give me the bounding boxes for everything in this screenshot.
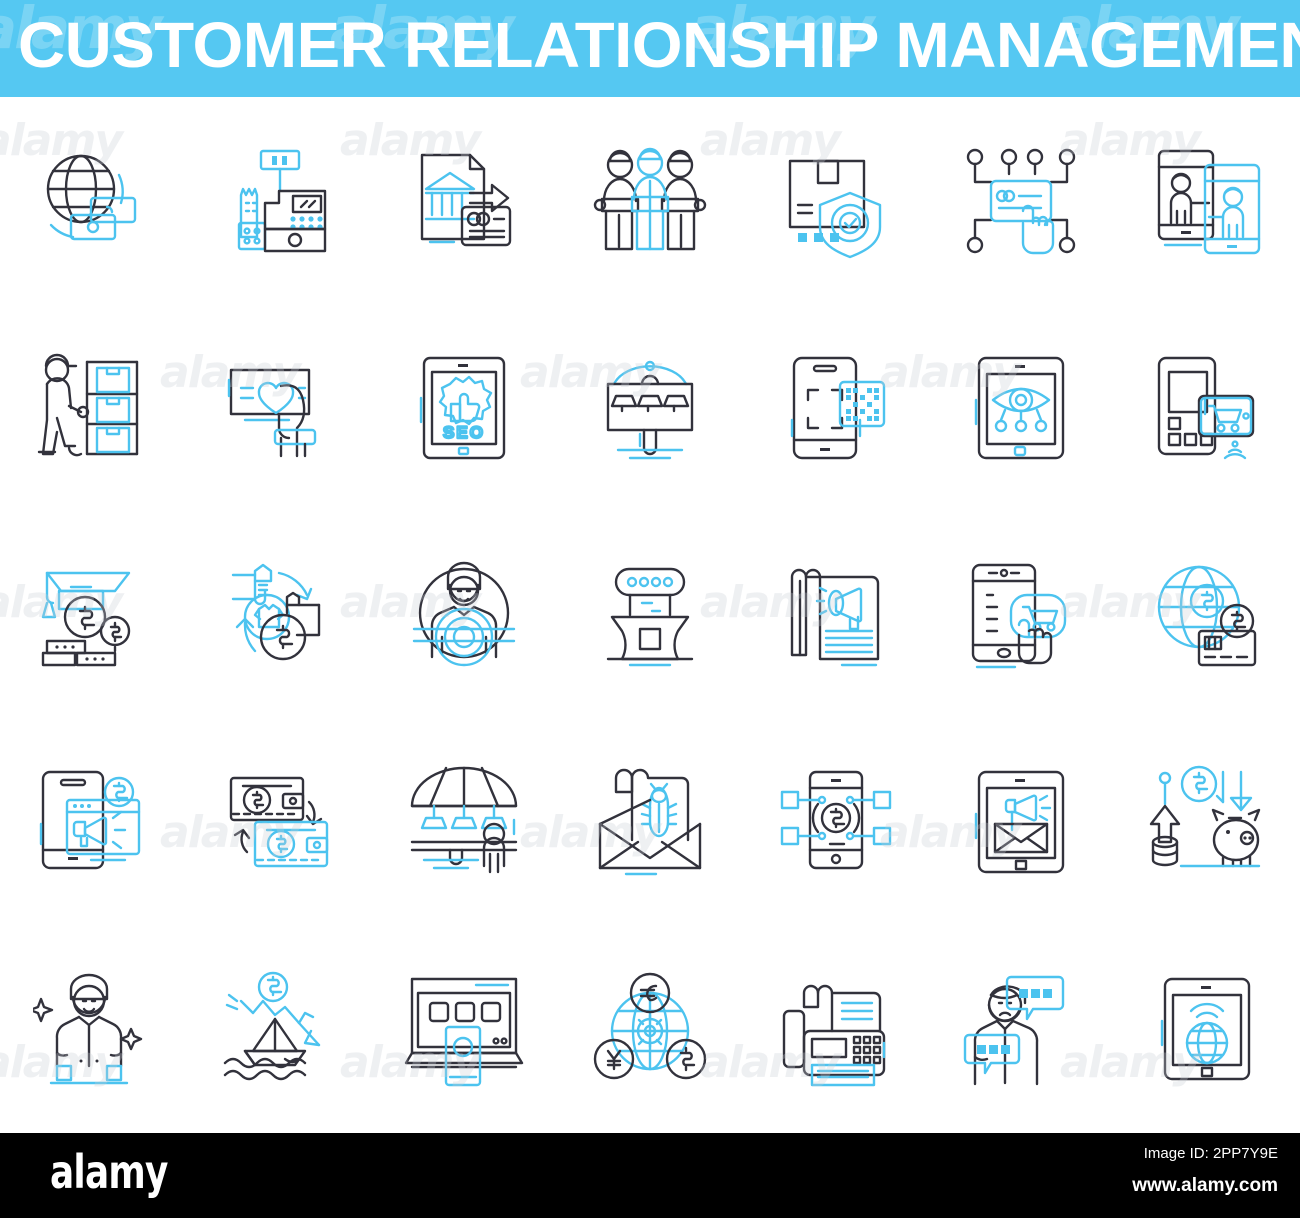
icon-grid: SEO xyxy=(0,97,1300,1133)
team-staff-icon xyxy=(565,106,735,296)
fax-machine-icon xyxy=(751,934,921,1124)
customer-target-icon xyxy=(379,520,549,710)
alamy-url-label[interactable]: www.alamy.com xyxy=(1132,1175,1278,1197)
global-money-icon xyxy=(8,106,178,296)
customer-support-chat-icon xyxy=(936,934,1106,1124)
currency-exchange-icon xyxy=(565,934,735,1124)
advertising-flyer-icon xyxy=(751,520,921,710)
secure-package-icon xyxy=(751,106,921,296)
mobile-shopping-icon xyxy=(1122,313,1292,503)
scholarship-money-icon xyxy=(8,520,178,710)
mobile-ad-icon xyxy=(8,727,178,917)
page-title: CUSTOMER RELATIONSHIP MANAGEMENT xyxy=(18,8,1300,82)
email-marketing-icon xyxy=(936,727,1106,917)
savings-growth-icon xyxy=(1122,727,1292,917)
atm-machine-icon xyxy=(379,934,549,1124)
alamy-logo: alamy xyxy=(50,1145,168,1199)
seo-tablet-icon: SEO xyxy=(379,313,549,503)
loyalty-card-icon xyxy=(194,313,364,503)
visibility-tablet-icon xyxy=(936,313,1106,503)
video-call-icon xyxy=(1122,106,1292,296)
mobile-cart-tap-icon xyxy=(936,520,1106,710)
cash-register-icon xyxy=(194,106,364,296)
sinking-profit-icon xyxy=(194,934,364,1124)
header-banner: alamy alamy alamy alamy CUSTOMER RELATIO… xyxy=(0,0,1300,97)
image-id-label: Image ID: 2PP7Y9E xyxy=(1144,1145,1278,1162)
market-stall-icon xyxy=(379,727,549,917)
warehouse-worker-icon xyxy=(8,313,178,503)
global-wifi-tablet-icon xyxy=(1122,934,1292,1124)
svg-text:SEO: SEO xyxy=(443,423,485,442)
product-refund-icon xyxy=(194,520,364,710)
happy-customer-icon xyxy=(8,934,178,1124)
qr-scan-phone-icon xyxy=(751,313,921,503)
trade-booth-icon xyxy=(565,520,735,710)
bank-transfer-icon xyxy=(379,106,549,296)
mobile-payment-node-icon xyxy=(751,727,921,917)
billboard-icon xyxy=(565,313,735,503)
card-payment-network-icon xyxy=(936,106,1106,296)
global-payment-icon xyxy=(1122,520,1292,710)
wallet-transfer-icon xyxy=(194,727,364,917)
spam-email-icon xyxy=(565,727,735,917)
footer-bar: alamy Image ID: 2PP7Y9E www.alamy.com xyxy=(0,1133,1300,1218)
